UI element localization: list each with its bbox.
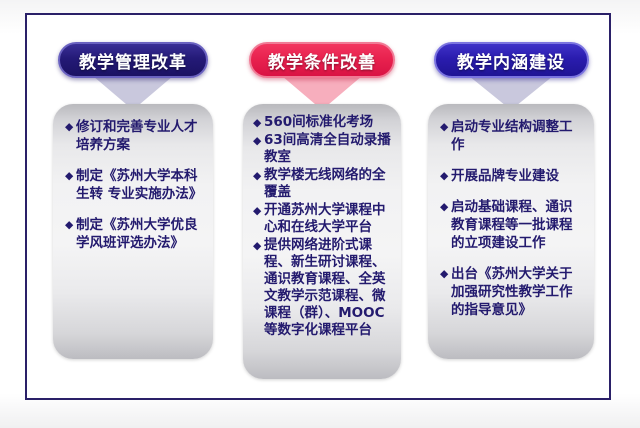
list-item: 启动专业结构调整工作 [440,118,584,154]
list-item: 修订和完善专业人才培养方案 [65,118,203,154]
list-item: 教学楼无线网络的全覆盖 [253,167,393,201]
list-item: 制定《苏州大学优良学风班评选办法》 [65,216,203,252]
column-header-pill-1[interactable]: 教学管理改革 [58,42,208,78]
column-teaching-conditions-improvement: 教学条件改善 560间标准化考场 63间高清全自动录播教室 教学楼无线网络的全覆… [243,42,401,379]
list-item: 制定《苏州大学本科生转 专业实施办法》 [65,167,203,203]
list-item: 提供网络进阶式课程、新生研讨课程、通识教育课程、全英文教学示范课程、微课程（群）… [253,237,393,339]
column-panel-1: 修订和完善专业人才培养方案 制定《苏州大学本科生转 专业实施办法》 制定《苏州大… [53,104,213,359]
column-teaching-connotation-construction: 教学内涵建设 启动专业结构调整工作 开展品牌专业建设 启动基础课程、通识教育课程… [428,42,594,359]
list-item: 开通苏州大学课程中心和在线大学平台 [253,202,393,236]
column-header-pill-3[interactable]: 教学内涵建设 [434,42,589,78]
slide-canvas: 教学管理改革 修订和完善专业人才培养方案 制定《苏州大学本科生转 专业实施办法》… [0,0,640,428]
column-header-label-1: 教学管理改革 [79,48,187,73]
column-header-pill-2[interactable]: 教学条件改善 [249,42,395,78]
list-item: 出台《苏州大学关于加强研究性教学工作的指导意见》 [440,265,584,319]
column-panel-3: 启动专业结构调整工作 开展品牌专业建设 启动基础课程、通识教育课程等一批课程的立… [428,104,594,359]
list-item: 启动基础课程、通识教育课程等一批课程的立项建设工作 [440,198,584,252]
list-item: 560间标准化考场 [253,114,393,131]
bullet-list-1: 修订和完善专业人才培养方案 制定《苏州大学本科生转 专业实施办法》 制定《苏州大… [65,118,203,252]
bullet-list-3: 启动专业结构调整工作 开展品牌专业建设 启动基础课程、通识教育课程等一批课程的立… [440,118,584,319]
list-item: 63间高清全自动录播教室 [253,132,393,166]
list-item: 开展品牌专业建设 [440,167,584,185]
column-panel-2: 560间标准化考场 63间高清全自动录播教室 教学楼无线网络的全覆盖 开通苏州大… [243,104,401,379]
bullet-list-2: 560间标准化考场 63间高清全自动录播教室 教学楼无线网络的全覆盖 开通苏州大… [253,114,393,339]
column-teaching-management-reform: 教学管理改革 修订和完善专业人才培养方案 制定《苏州大学本科生转 专业实施办法》… [53,42,213,359]
column-header-label-3: 教学内涵建设 [457,48,565,73]
column-header-label-2: 教学条件改善 [268,48,376,73]
